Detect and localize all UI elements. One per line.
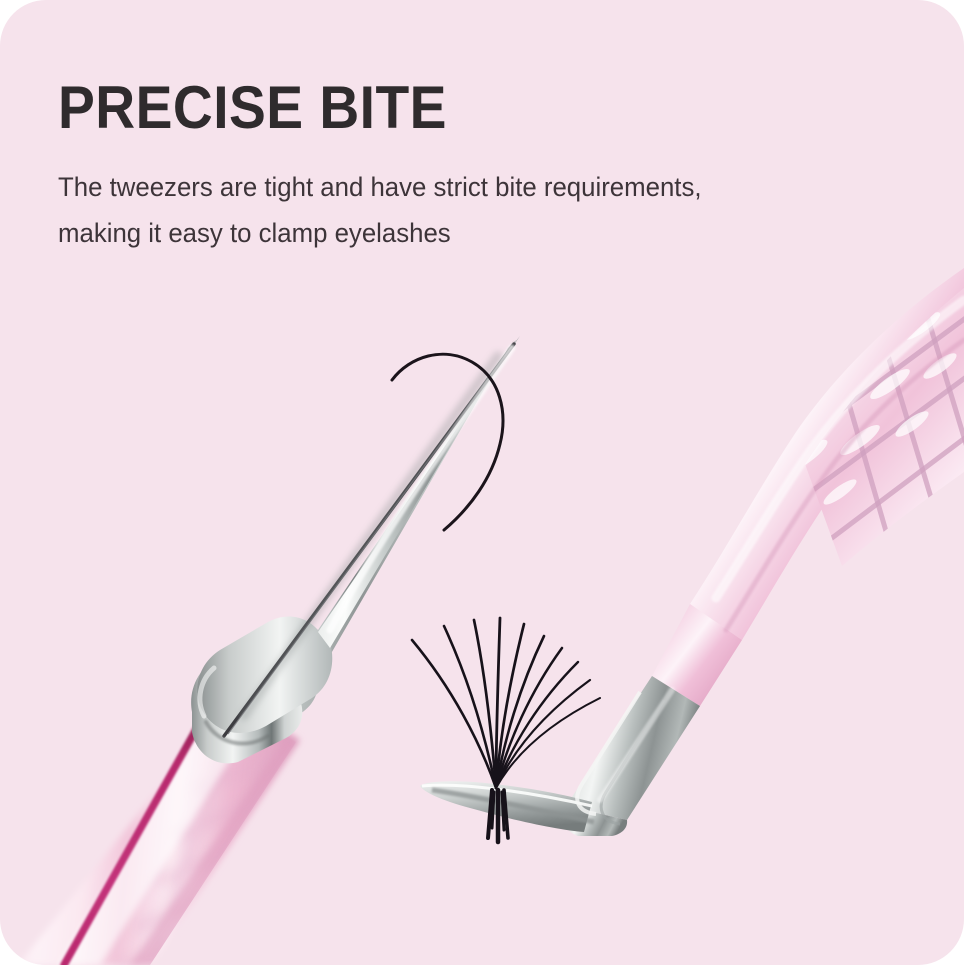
description-line-1: The tweezers are tight and have strict b… xyxy=(58,164,755,210)
description-text: The tweezers are tight and have strict b… xyxy=(58,164,755,257)
right-tweezer-handle xyxy=(652,244,964,706)
right-tweezer-steel-boot xyxy=(420,676,700,836)
jaw-seam-line xyxy=(224,344,514,736)
diamond-grip-pattern xyxy=(742,244,964,600)
description-line-2: making it easy to clamp eyelashes xyxy=(58,210,755,256)
volume-lash-fan xyxy=(412,618,600,842)
blurred-grip-texture xyxy=(118,720,300,965)
left-tweezer-handle xyxy=(18,694,302,965)
page-title: PRECISE BITE xyxy=(58,78,794,138)
tweezer-shaft xyxy=(197,340,514,733)
product-feature-card: PRECISE BITE The tweezers are tight and … xyxy=(0,0,964,965)
boot-blade xyxy=(420,781,592,832)
single-eyelash-hair xyxy=(392,354,503,530)
text-block: PRECISE BITE The tweezers are tight and … xyxy=(58,78,858,257)
left-tweezer-steel-tip xyxy=(191,336,520,763)
handle-seam-line xyxy=(64,694,216,965)
